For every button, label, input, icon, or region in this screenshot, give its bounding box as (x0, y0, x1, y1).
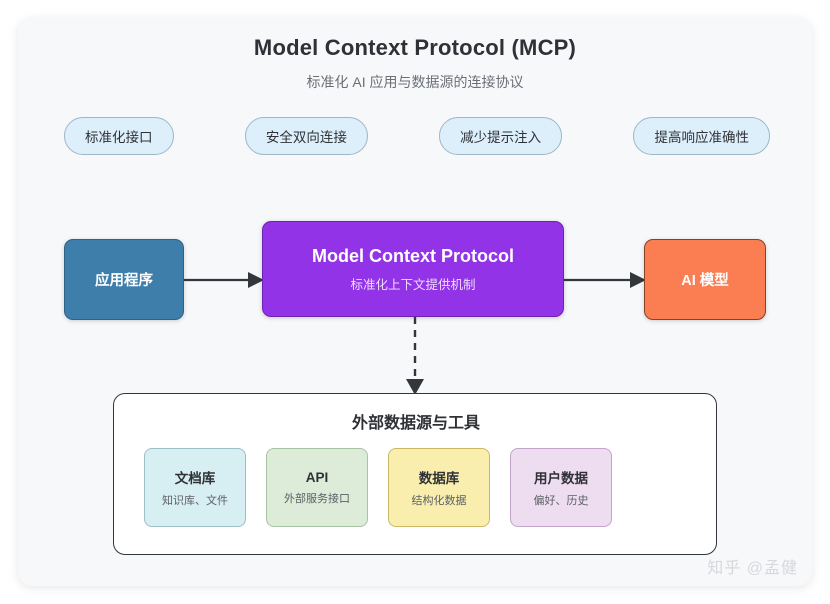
external-sources-title: 外部数据源与工具 (114, 409, 718, 433)
node-ai-model[interactable]: AI 模型 (644, 239, 766, 320)
feature-pill-reduce-prompt-injection[interactable]: 减少提示注入 (439, 117, 562, 155)
source-card-documents-subtitle: 知识库、文件 (162, 492, 228, 508)
watermark: 知乎 @孟健 (707, 554, 798, 578)
page-title: Model Context Protocol (MCP) (18, 35, 812, 61)
source-card-database[interactable]: 数据库 结构化数据 (388, 448, 490, 527)
main-flow-row: 应用程序 Model Context Protocol 标准化上下文提供机制 A… (18, 221, 812, 329)
source-card-user-data-subtitle: 偏好、历史 (534, 492, 589, 508)
arrow-app-to-mcp-icon (184, 265, 264, 295)
source-card-database-subtitle: 结构化数据 (412, 492, 467, 508)
node-application-label: 应用程序 (95, 269, 153, 290)
source-card-user-data[interactable]: 用户数据 偏好、历史 (510, 448, 612, 527)
source-card-database-title: 数据库 (419, 467, 460, 487)
diagram-canvas: Model Context Protocol (MCP) 标准化 AI 应用与数… (18, 18, 812, 586)
node-mcp-sublabel: 标准化上下文提供机制 (350, 274, 475, 293)
node-model-context-protocol[interactable]: Model Context Protocol 标准化上下文提供机制 (262, 221, 564, 317)
source-card-documents-title: 文档库 (175, 467, 216, 487)
feature-pill-row: 标准化接口 安全双向连接 减少提示注入 提高响应准确性 (64, 116, 770, 156)
node-ai-model-label: AI 模型 (681, 269, 729, 290)
node-mcp-label: Model Context Protocol (312, 246, 514, 267)
node-application[interactable]: 应用程序 (64, 239, 184, 320)
feature-pill-secure-bidirectional[interactable]: 安全双向连接 (245, 117, 368, 155)
external-sources-card-row: 文档库 知识库、文件 API 外部服务接口 数据库 结构化数据 用户数据 偏好、… (144, 448, 612, 527)
external-sources-container: 外部数据源与工具 文档库 知识库、文件 API 外部服务接口 数据库 结构化数据… (113, 393, 717, 555)
feature-pill-improve-accuracy[interactable]: 提高响应准确性 (633, 117, 770, 155)
source-card-api-title: API (306, 470, 329, 485)
source-card-user-data-title: 用户数据 (534, 467, 588, 487)
feature-pill-standard-interface[interactable]: 标准化接口 (64, 117, 174, 155)
source-card-api[interactable]: API 外部服务接口 (266, 448, 368, 527)
source-card-documents[interactable]: 文档库 知识库、文件 (144, 448, 246, 527)
source-card-api-subtitle: 外部服务接口 (284, 490, 350, 506)
arrow-mcp-to-ai-icon (564, 265, 646, 295)
page-subtitle: 标准化 AI 应用与数据源的连接协议 (18, 72, 812, 92)
